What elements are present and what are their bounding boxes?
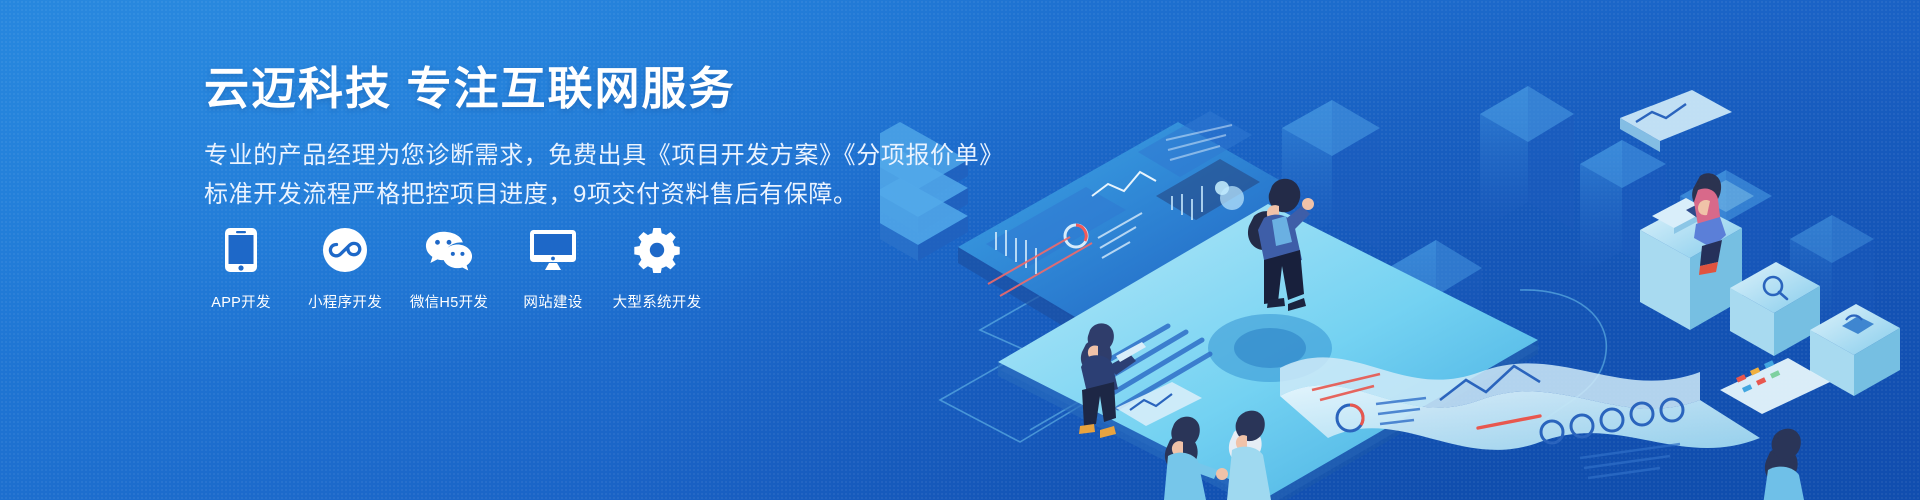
isometric-illustration xyxy=(880,0,1920,500)
service-item-wechat-h5[interactable]: 微信H5开发 xyxy=(412,226,486,312)
city-skyline-blocks xyxy=(1180,86,1874,360)
service-label: APP开发 xyxy=(211,291,271,312)
mini-chart-card xyxy=(1116,382,1202,426)
woman-on-pedestal-with-laptop xyxy=(1640,173,1742,330)
seated-person-with-laptop xyxy=(1079,323,1146,438)
service-list: APP开发 小程序开发 微信 xyxy=(204,226,694,312)
service-item-large-system[interactable]: 大型系统开发 xyxy=(620,226,694,312)
wechat-icon xyxy=(425,226,473,274)
mini-table-card xyxy=(1720,358,1830,414)
desktop-monitor-icon xyxy=(529,226,577,274)
service-item-app[interactable]: APP开发 xyxy=(204,226,278,312)
dashboard-screen xyxy=(958,111,1300,336)
banner-subtitle: 专业的产品经理为您诊断需求，免费出具《项目开发方案》《分项报价单》 标准开发流程… xyxy=(204,137,924,215)
connector-wires xyxy=(940,290,1606,442)
standing-person-pointing xyxy=(1220,179,1314,311)
mobile-phone-icon xyxy=(217,226,265,274)
service-label: 网站建设 xyxy=(523,291,582,312)
two-people-talking xyxy=(1164,411,1271,500)
subtitle-line-2: 标准开发流程严格把控项目进度，9项交付资料售后有保障。 xyxy=(204,176,924,215)
tablet-platform xyxy=(998,204,1540,500)
service-label: 小程序开发 xyxy=(308,291,382,312)
floating-chart-card xyxy=(1620,90,1732,152)
service-item-miniprogram[interactable]: 小程序开发 xyxy=(308,226,382,312)
gear-icon xyxy=(633,226,681,274)
bottom-right-figure xyxy=(1763,429,1805,500)
subtitle-line-1: 专业的产品经理为您诊断需求，免费出具《项目开发方案》《分项报价单》 xyxy=(204,137,924,176)
banner-copy: 云迈科技 专注互联网服务 专业的产品经理为您诊断需求，免费出具《项目开发方案》《… xyxy=(204,62,924,215)
page-title: 云迈科技 专注互联网服务 xyxy=(204,62,924,115)
flowing-report-ribbon xyxy=(1280,357,1760,478)
service-label: 大型系统开发 xyxy=(613,291,702,312)
service-label: 微信H5开发 xyxy=(410,291,488,312)
service-item-website[interactable]: 网站建设 xyxy=(516,226,590,312)
pedestal-cubes xyxy=(1730,262,1900,396)
hero-banner: 云迈科技 专注互联网服务 专业的产品经理为您诊断需求，免费出具《项目开发方案》《… xyxy=(0,0,1920,500)
mini-program-icon xyxy=(321,226,369,274)
